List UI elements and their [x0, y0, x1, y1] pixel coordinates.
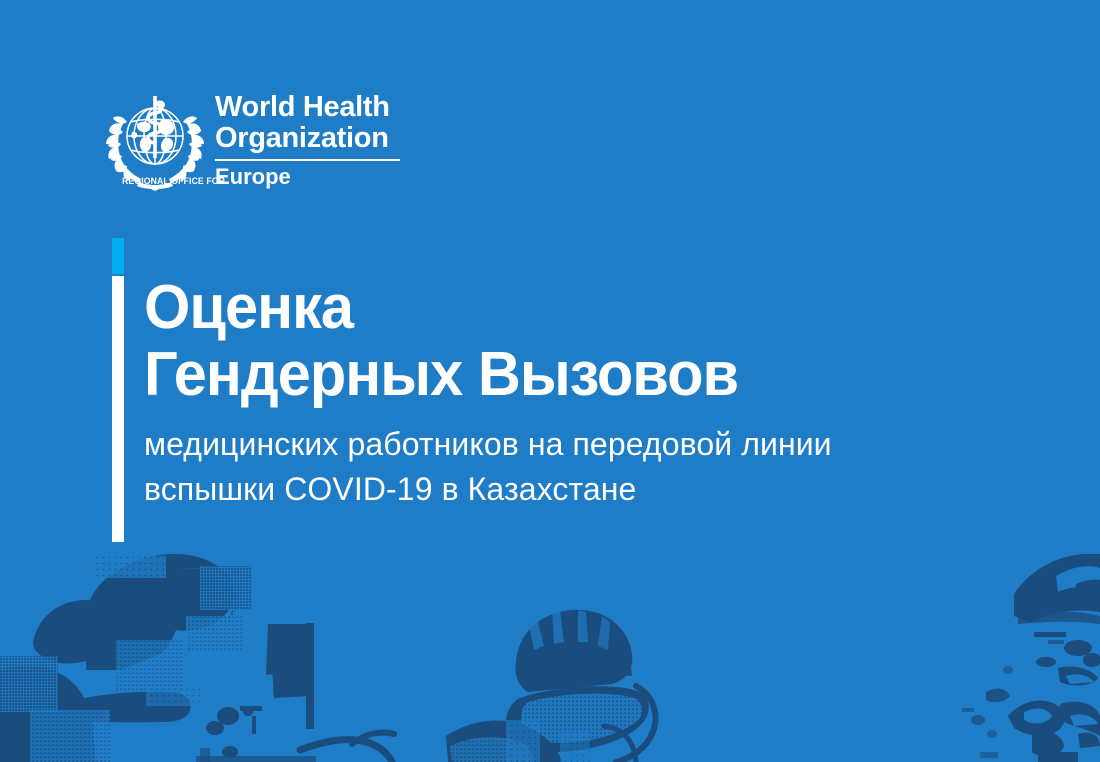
- accent-bar-cyan-segment: [112, 238, 124, 274]
- who-name-line1: World Health: [215, 92, 400, 123]
- page-subtitle: медицинских работников на передовой лини…: [144, 422, 974, 512]
- cover-title-block: Оценка Гендерных Вызовов медицинских раб…: [144, 274, 974, 512]
- page-title-line1: Оценка: [144, 274, 941, 341]
- who-logo-text: World Health Organization Europe REGIONA…: [215, 86, 400, 189]
- who-logo: World Health Organization Europe REGIONA…: [103, 86, 403, 204]
- logo-divider: [215, 159, 400, 161]
- who-region-name: Europe: [215, 165, 400, 189]
- regional-office-label: REGIONAL OFFICE FOR: [122, 176, 225, 187]
- accent-bar-white-segment: [112, 276, 124, 542]
- page-title-line2: Гендерных Вызовов: [144, 341, 941, 408]
- report-cover: World Health Organization Europe REGIONA…: [0, 0, 1100, 762]
- page-subtitle-line1: медицинских работников на передовой лини…: [144, 422, 974, 467]
- duotone-health-workers-photo: [0, 520, 1100, 762]
- page-subtitle-line2: вспышки COVID-19 в Казахстане: [144, 467, 974, 512]
- who-name-line2: Organization: [215, 123, 400, 154]
- title-accent-bar: [112, 238, 124, 540]
